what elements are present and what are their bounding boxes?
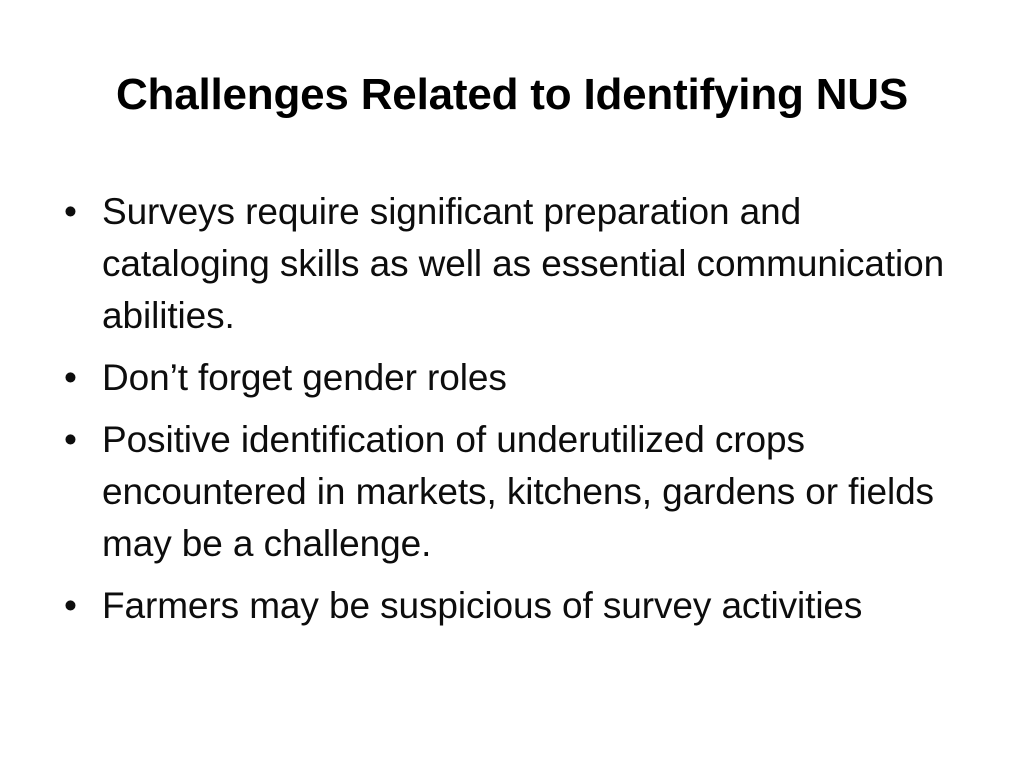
list-item: • Farmers may be suspicious of survey ac… (56, 580, 972, 632)
list-item-text: Farmers may be suspicious of survey acti… (102, 580, 972, 632)
list-item-text: Positive identification of underutilized… (102, 414, 972, 570)
list-item-text: Don’t forget gender roles (102, 352, 972, 404)
page-title: Challenges Related to Identifying NUS (48, 68, 976, 122)
bullet-point-icon: • (64, 186, 94, 238)
bullet-point-icon: • (64, 414, 94, 466)
list-item: • Positive identification of underutiliz… (56, 414, 972, 570)
bullet-point-icon: • (64, 352, 94, 404)
list-item: • Surveys require significant preparatio… (56, 186, 972, 342)
list-item: • Don’t forget gender roles (56, 352, 972, 404)
presentation-slide: Challenges Related to Identifying NUS • … (0, 0, 1024, 768)
list-item-text: Surveys require significant preparation … (102, 186, 972, 342)
bullet-list: • Surveys require significant preparatio… (56, 186, 972, 632)
bullet-point-icon: • (64, 580, 94, 632)
